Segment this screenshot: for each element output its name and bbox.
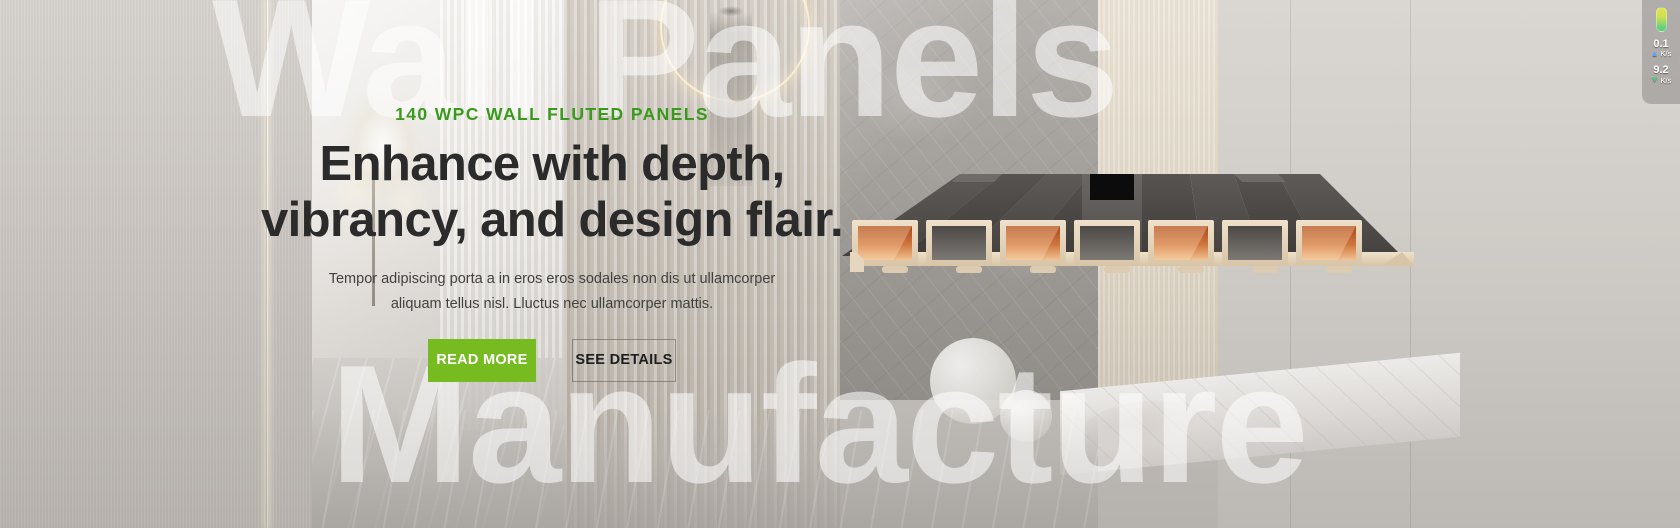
see-details-button[interactable]: SEE DETAILS: [572, 339, 676, 382]
cta-row: READ MORE SEE DETAILS: [252, 339, 852, 382]
wpc-panel-svg: [842, 160, 1422, 286]
subcopy-line-1: Tempor adipiscing porta a in eros eros s…: [329, 271, 776, 287]
upload-unit-row: ▲ K/s: [1651, 50, 1672, 58]
download-unit-row: ▼ K/s: [1651, 76, 1672, 84]
hero-copy: 140 WPC WALL FLUTED PANELS Enhance with …: [252, 104, 852, 382]
headline-line-1: Enhance with depth,: [319, 137, 784, 191]
download-unit: K/s: [1661, 77, 1672, 85]
battery-gauge-icon: [1656, 7, 1667, 32]
hero-description: Tempor adipiscing porta a in eros eros s…: [252, 267, 852, 317]
network-speed-widget[interactable]: 0.1 ▲ K/s 9.2 ▼ K/s: [1642, 0, 1680, 104]
download-arrow-icon: ▼: [1651, 76, 1659, 84]
headline-line-2: vibrancy, and design flair.: [261, 193, 843, 247]
page-title: Enhance with depth, vibrancy, and design…: [252, 137, 852, 249]
upload-arrow-icon: ▲: [1651, 50, 1659, 58]
hero-banner: Wall Panels Manufacture: [0, 0, 1680, 528]
subcopy-line-2: aliquam tellus nisl. Lluctus nec ullamco…: [391, 296, 713, 312]
upload-unit: K/s: [1661, 50, 1672, 58]
upload-speed: 0.1 ▲ K/s: [1642, 39, 1680, 58]
eyebrow-text: 140 WPC WALL FLUTED PANELS: [252, 104, 852, 125]
wpc-panel-product-image: [842, 160, 1422, 286]
read-more-button[interactable]: READ MORE: [428, 339, 536, 382]
download-speed: 9.2 ▼ K/s: [1642, 65, 1680, 84]
